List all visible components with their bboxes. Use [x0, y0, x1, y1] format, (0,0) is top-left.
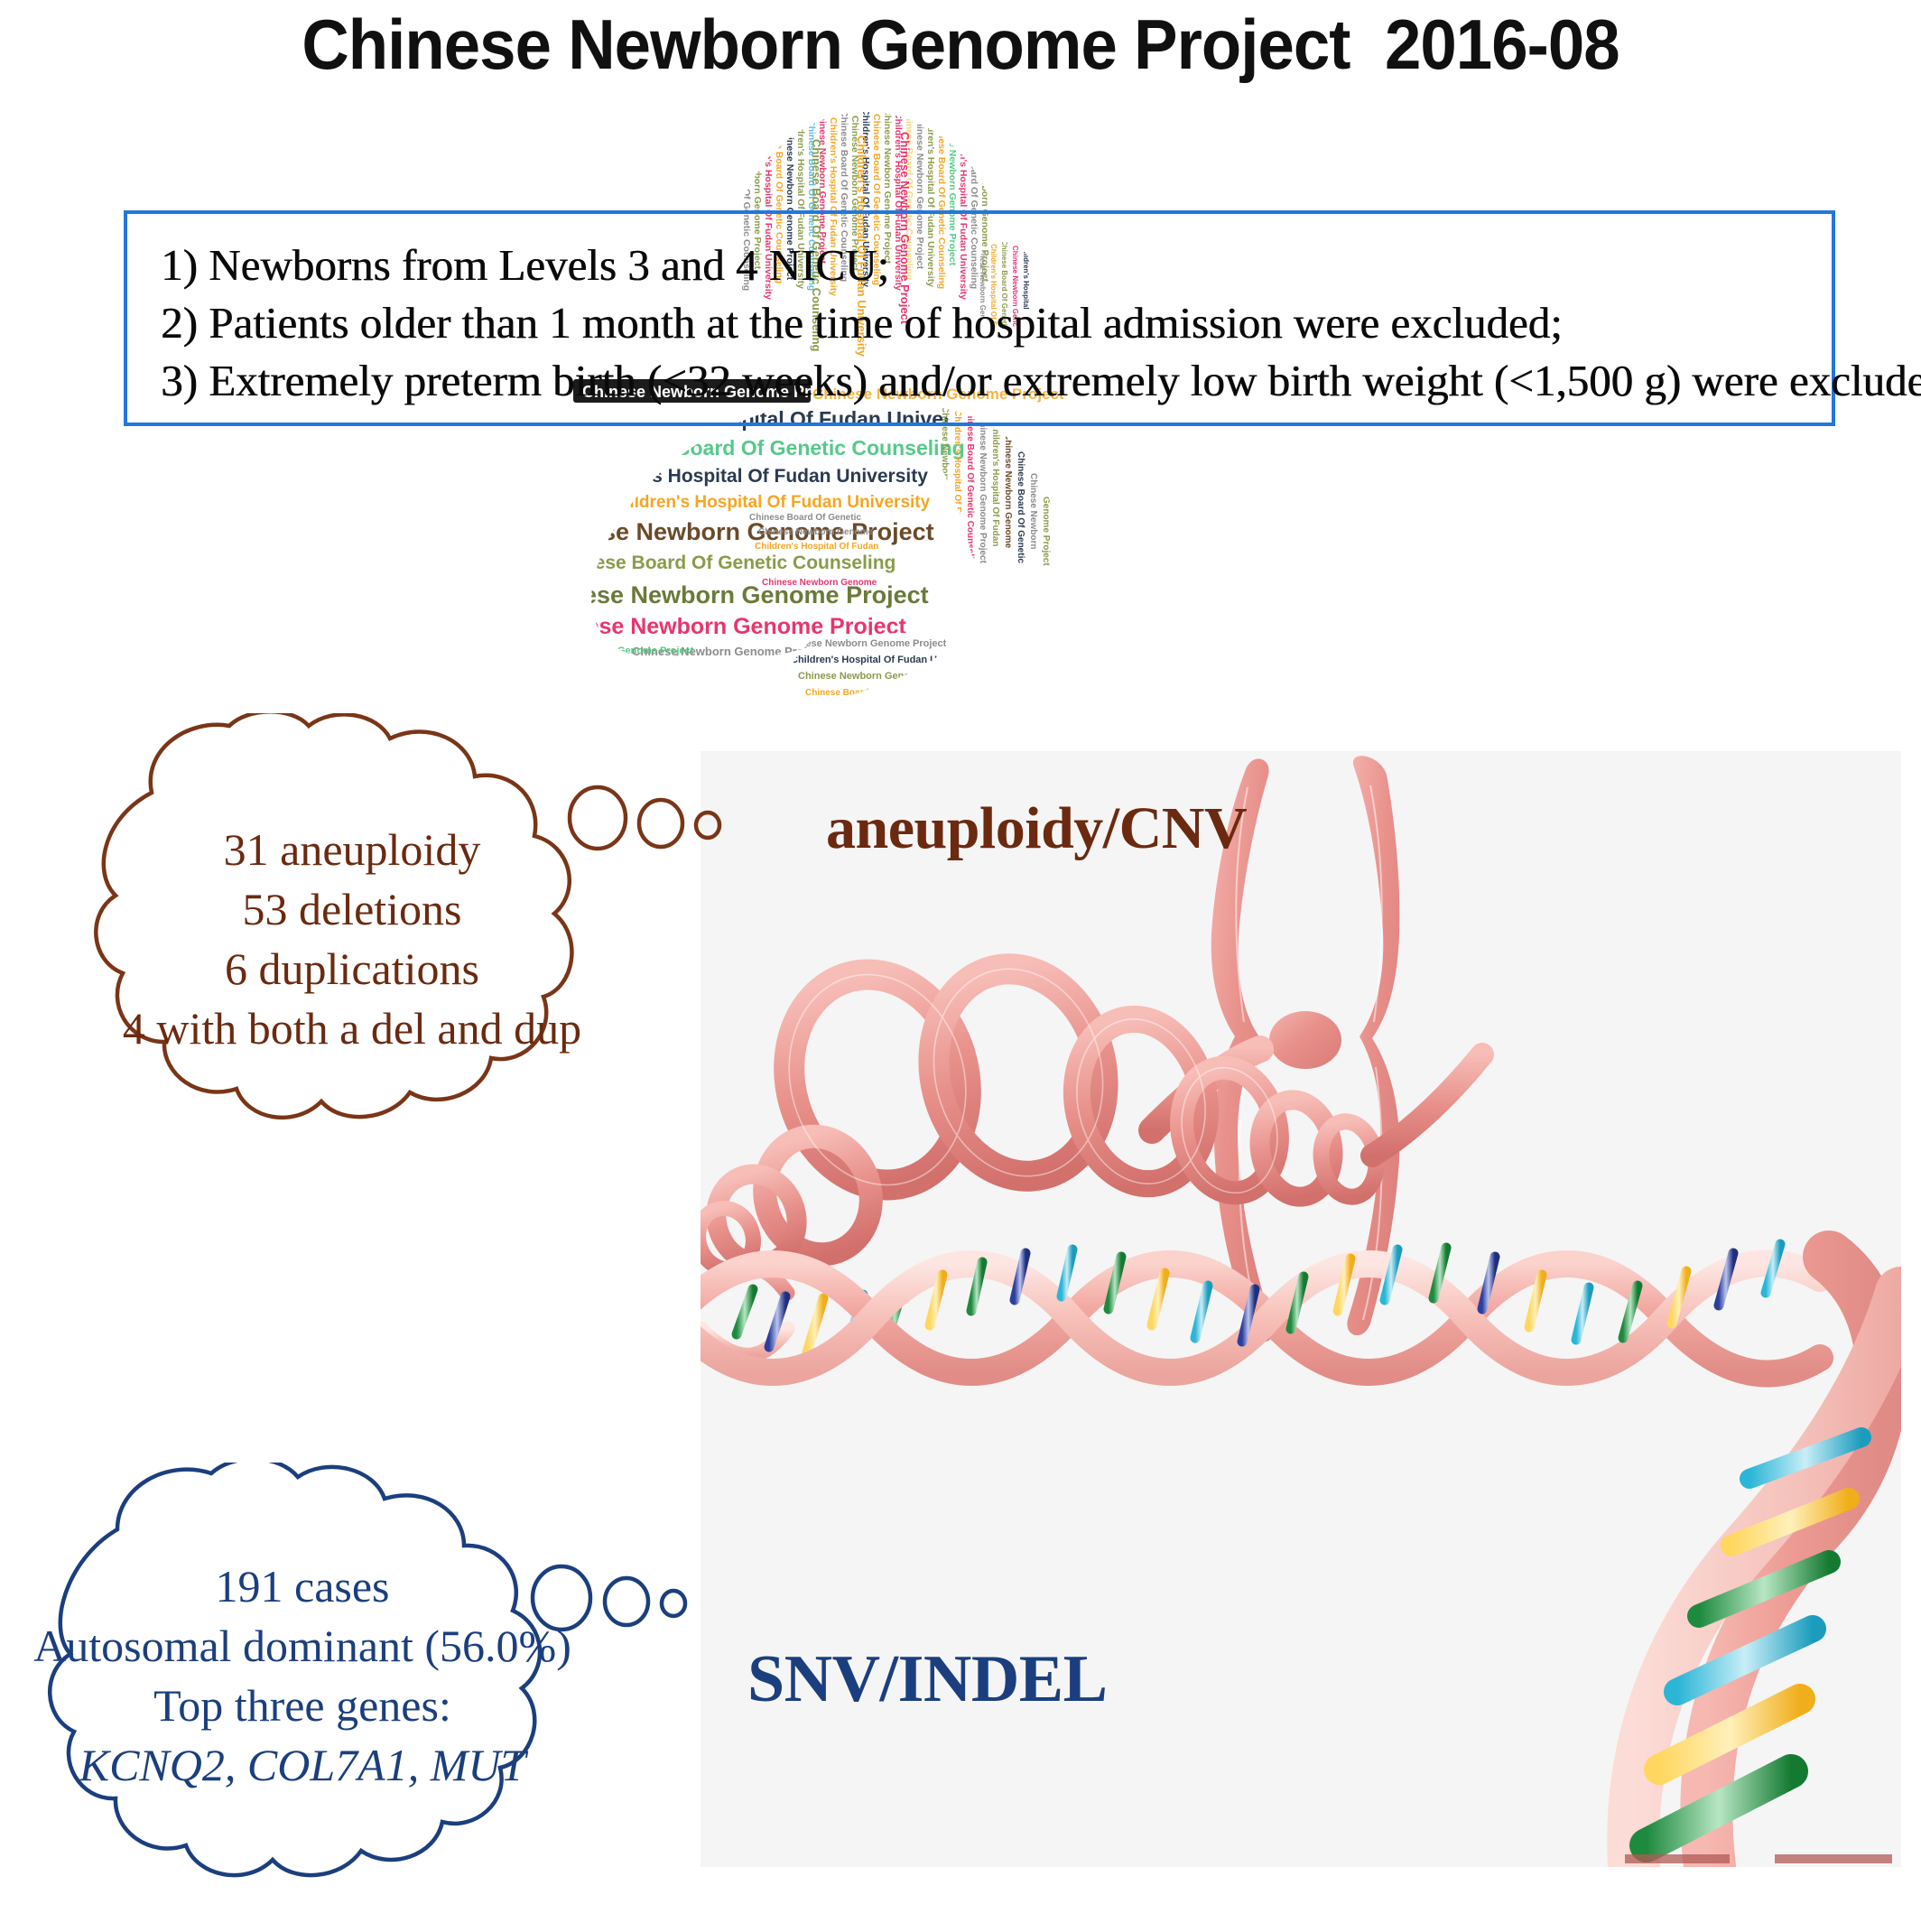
inclusion-criteria-list: 1) Newborns from Levels 3 and 4 NICU; 2)…	[144, 237, 1833, 410]
svg-text:Chinese Newborn Genome: Chinese Newborn Genome	[1003, 433, 1013, 549]
svg-text:Chinese Newborn Genome Project: Chinese Newborn Genome Project	[978, 415, 988, 564]
svg-text:Chinese Newborn Genome Project: Chinese Newborn Genome Project	[542, 646, 694, 656]
svg-text:Chinese Newborn Genome Project: Chinese Newborn Genome Project	[542, 614, 906, 639]
wordcloud-leg: Chinese Newborn Genome Project Children'…	[784, 638, 979, 698]
criteria-line-1: 1) Newborns from Levels 3 and 4 NICU;	[144, 237, 1833, 294]
svg-text:Chinese Board Of Genetic Couns: Chinese Board Of Genetic Counseling	[805, 688, 969, 698]
svg-text:Chinese Board Of Genetic: Chinese Board Of Genetic	[1016, 451, 1025, 563]
chromatin-coils	[701, 951, 1482, 1276]
svg-text:Chinese Board Of Genetic Couns: Chinese Board Of Genetic Counseling	[589, 436, 965, 460]
svg-text:Chinese Board Of Genetic Couns: Chinese Board Of Genetic Counseling	[965, 406, 975, 570]
svg-text:Chinese Newborn Genome Project: Chinese Newborn Genome Project	[542, 678, 691, 689]
svg-text:Chinese Board Of Genetic Couns: Chinese Board Of Genetic Counseling	[552, 553, 896, 573]
criteria-line-3: 3) Extremely preterm birth (<32 weeks) a…	[144, 352, 1833, 410]
svg-text:Children's Hospital Of Fudan: Children's Hospital Of Fudan	[990, 423, 1000, 546]
svg-text:Chinese Newborn Genome Project: Chinese Newborn Genome Project	[641, 664, 819, 676]
svg-text:Genome Project: Genome Project	[1041, 497, 1051, 566]
svg-text:Children's Hospital Of Fudan U: Children's Hospital Of Fudan University	[596, 407, 988, 431]
criteria-line-2: 2) Patients older than 1 month at the ti…	[144, 294, 1833, 352]
svg-text:Chinese Board Of Genetic: Chinese Board Of Genetic	[749, 513, 861, 523]
svg-text:Children's Hospital Of Fudan U: Children's Hospital Of Fudan University	[791, 655, 979, 665]
dna-double-helix	[701, 1244, 1820, 1374]
snv-indel-label: SNV/INDEL	[747, 1641, 1108, 1718]
svg-text:Chinese Newborn Genome: Chinese Newborn Genome	[762, 578, 877, 588]
wordcloud-arm: Chinese Newborn Genome Project Children'…	[940, 406, 1051, 581]
svg-text:Children's Hospital Of Fudan U: Children's Hospital Of Fudan University	[571, 466, 928, 487]
svg-text:Children's Hospital Of Fudan U: Children's Hospital Of Fudan University	[607, 493, 931, 512]
page-title: Chinese Newborn Genome Project 2016-08	[67, 4, 1853, 86]
aneuploidy-cnv-label: aneuploidy/CNV	[826, 794, 1247, 863]
snv-thought-bubble: 191 cases Autosomal dominant (56.0%) Top…	[0, 1463, 713, 1932]
svg-text:Chinese Newborn Genome: Chinese Newborn Genome	[758, 527, 874, 537]
svg-text:Chinese Newborn Genome Project: Chinese Newborn Genome Project	[784, 638, 947, 649]
svg-text:Chinese Newborn: Chinese Newborn	[1028, 473, 1038, 549]
svg-text:Children's Hospital Of Fudan: Children's Hospital Of Fudan	[755, 542, 878, 552]
svg-text:Chinese Board Of Genetic Couns: Chinese Board Of Genetic Counseling	[542, 662, 709, 673]
svg-text:Chinese Newborn Genome Project: Chinese Newborn Genome Project	[798, 671, 961, 682]
dna-helix-large	[1625, 1257, 1901, 1867]
svg-text:Children's Hospital Of Fudan U: Children's Hospital Of Fudan University	[952, 410, 962, 581]
svg-text:Chinese Newborn Genome Project: Chinese Newborn Genome Project	[940, 406, 950, 555]
snv-bubble-outline	[0, 1463, 713, 1932]
cnv-bubble-outline	[36, 713, 758, 1183]
cnv-thought-bubble: 31 aneuploidy 53 deletions 6 duplication…	[36, 713, 758, 1183]
